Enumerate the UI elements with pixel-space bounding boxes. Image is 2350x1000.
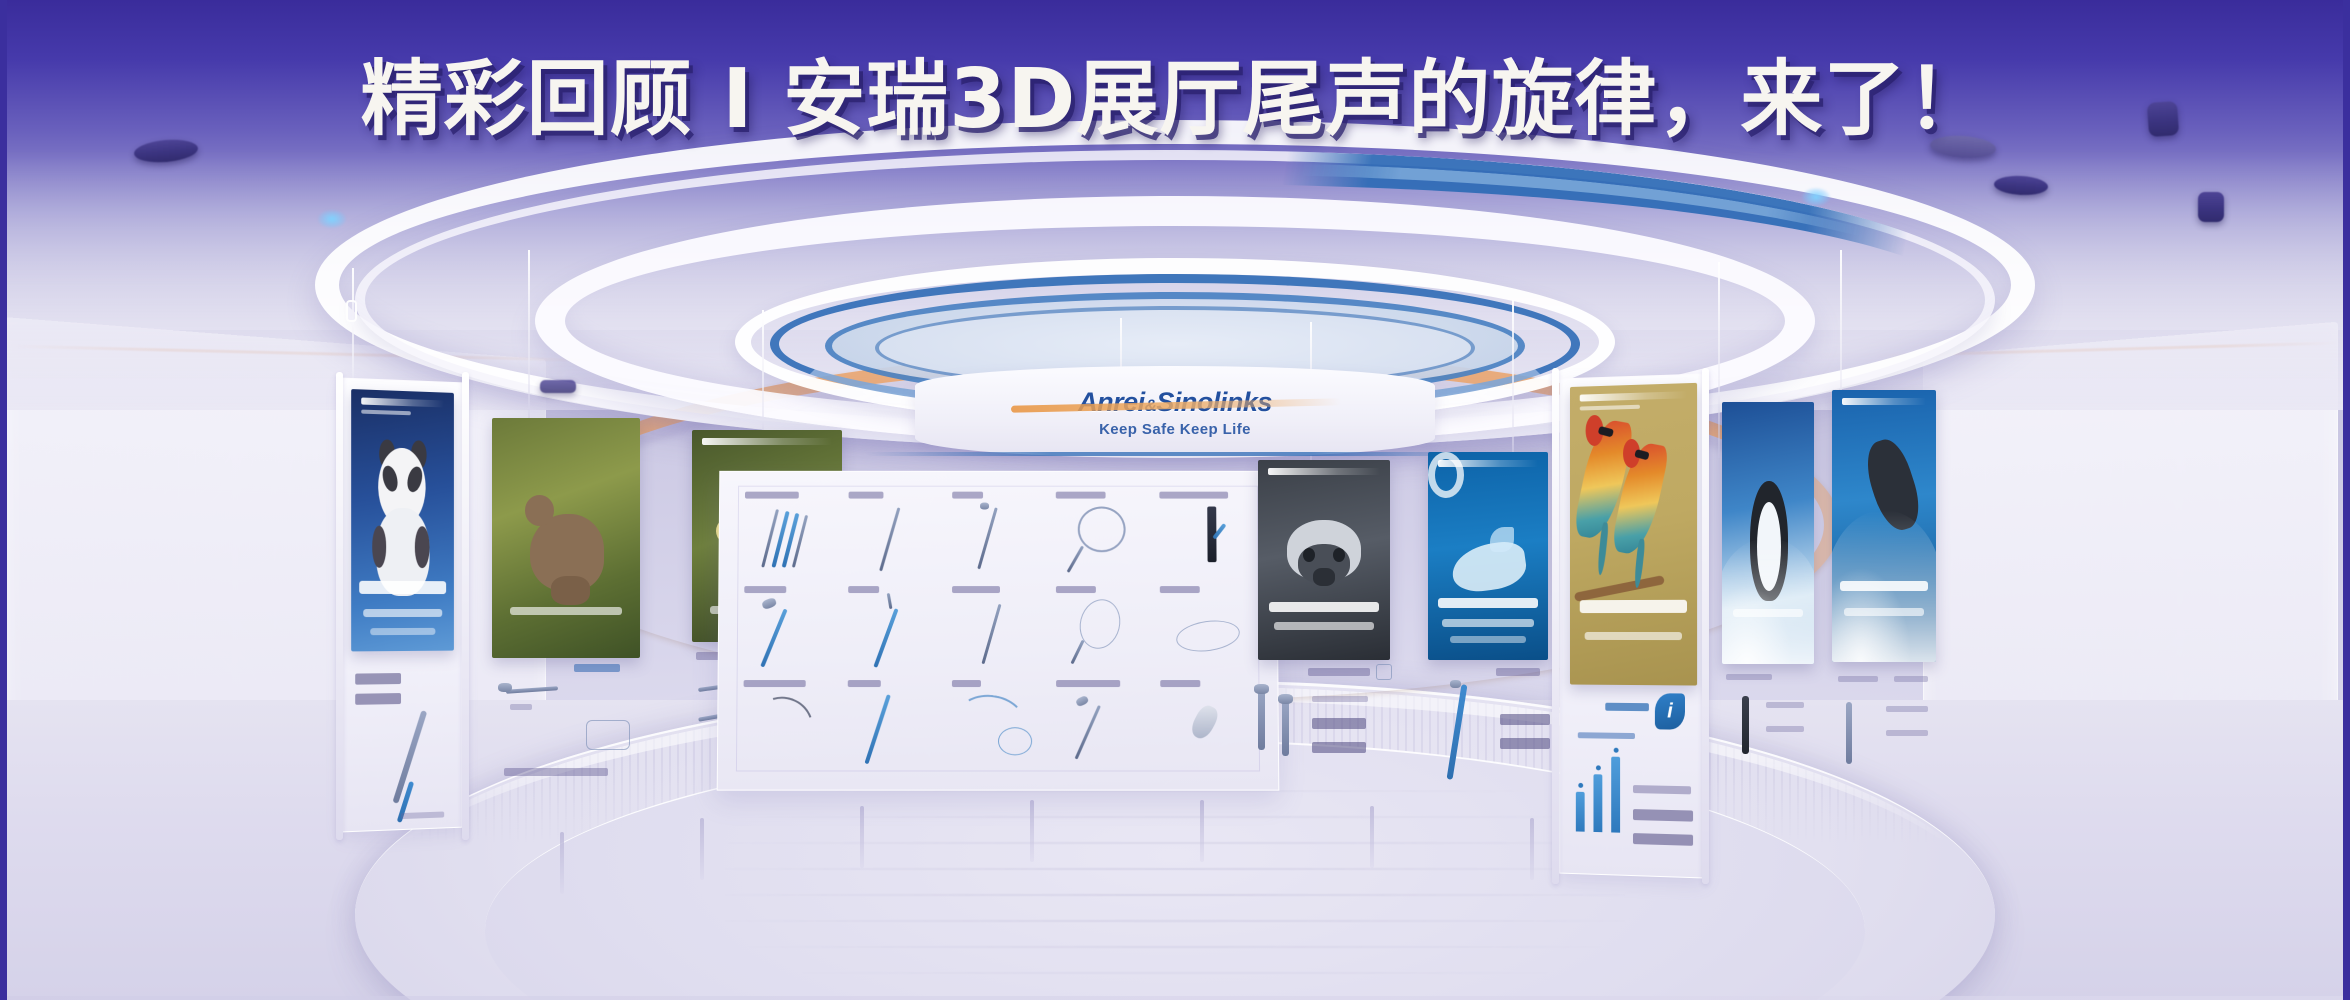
snare-shaft-icon [873,608,898,668]
product-instrument [1846,702,1852,764]
product-cell [1154,581,1259,676]
product-cell [842,487,946,581]
product-cell [1154,675,1259,770]
product-label [1056,680,1121,687]
balloon-loop-icon [1078,507,1126,553]
poster-subtitle-bar [1585,632,1682,640]
stand-footer-line [401,811,444,819]
bar-chart [1576,752,1620,833]
stand-frame [336,372,343,840]
product-instrument [506,686,558,694]
poster-subtitle-bar-2 [370,628,436,635]
product-label [952,492,983,499]
poster-brandline-sub [1580,405,1641,411]
poster-subtitle-bar [1733,609,1803,617]
rail-post [560,832,564,894]
kangaroo-head-icon [525,495,555,526]
panel-caption-line [1312,742,1366,753]
poster-subtitle-bar-2 [1450,636,1527,643]
logo-underline [865,452,1485,456]
chart-caption-line [1633,809,1693,822]
guidewire-icon [879,507,900,571]
rail-post [700,818,704,880]
info-badge-icon: i [1655,693,1685,730]
product-cell [1050,581,1154,676]
poster-title-bar [1840,581,1927,591]
dilator-icon [977,507,997,569]
product-instrument [1282,700,1289,756]
product-instrument-tip [1254,684,1269,694]
poster-ocean [1832,390,1936,662]
panel-kangaroo [478,412,658,822]
stand-frame [1702,368,1709,884]
bar [1593,774,1602,832]
kangaroo-leg-icon [551,576,589,605]
rail-post [1530,818,1534,880]
product-label [1159,492,1227,499]
panel-caption-line [1496,668,1540,676]
poster-title-bar [1269,602,1380,612]
panel-caption-line [1886,730,1928,736]
pigtail-shaft-icon [1071,639,1085,664]
delivery-shaft-icon [1075,705,1101,759]
product-cell [738,487,842,581]
brand-primary: Anrei [1078,387,1145,417]
product-cell [1153,487,1257,581]
product-cell [738,581,843,676]
panel-caption-line [1500,738,1550,749]
branch-icon [1574,575,1665,602]
poster-brandline [1268,468,1380,475]
bar [1576,792,1585,832]
product-instrument [586,720,630,750]
basket-shaft-icon [760,608,787,667]
poster-title-bar [1580,600,1687,613]
poster-subtitle-bar [510,607,623,615]
poster-subtitle-bar [364,609,442,617]
stand-caption-line [355,693,401,705]
badger-nose-icon [1313,568,1334,586]
chart-caption-line [1633,833,1693,846]
bar-cap-icon [1578,783,1583,788]
microcatheter-icon [864,695,890,765]
chart-caption-line [1633,785,1691,794]
panel-ocean [1826,390,1956,840]
delivery-handle-icon [1075,695,1089,707]
brand-tagline: Keep Safe Keep Life [1099,421,1251,438]
panel-caption-line [1894,676,1928,682]
product-cell [1050,675,1155,770]
basket-head-icon [761,597,777,610]
panel-caption-line [1312,718,1366,729]
info-badge-glyph: i [1667,700,1673,723]
stand-caption-line [355,673,401,685]
product-label [952,586,1000,593]
stand-panel-panda [342,378,463,833]
panda-arm-icon [415,526,429,568]
product-cell [946,581,1050,676]
product-grid [736,486,1260,772]
poster-subtitle-bar [1274,622,1374,630]
poster-brandline [361,397,444,407]
right-edge-trim [2343,0,2350,1000]
bird-icon [1621,442,1659,555]
panel-mark-icon [1376,664,1392,680]
poster-brandline [1438,460,1538,467]
panel-footer-line [504,768,608,776]
poster-honey-badger [1258,460,1390,660]
poster-subtitle-bar [1844,608,1923,616]
poster-subtitle-bar [1442,619,1533,627]
biopsy-forceps-icon [981,603,1001,663]
badger-eye-icon [1303,548,1315,562]
panel-caption-line [1886,706,1928,712]
bottom-edge-trim [0,996,2350,1000]
product-label [1056,586,1095,593]
bar-cap-icon [1595,765,1600,770]
left-edge-trim [0,0,7,1000]
panel-caption-line [1500,714,1550,725]
panel-caption-line [1312,696,1368,702]
rail-post [1030,800,1034,862]
panel-caption-line [510,704,532,710]
product-cell [841,675,946,770]
dilatation-balloon-icon [1174,616,1242,655]
panel-caption-line [1766,702,1804,708]
product-label [744,586,786,593]
panel-badger [1248,460,1428,820]
bar [1611,757,1620,833]
dolphin-splash-icon [1428,452,1464,498]
panda-arm-icon [372,526,386,568]
product-cell [1050,487,1154,581]
product-label [744,680,807,687]
stand-panel-bird: i [1559,374,1704,879]
occluder-icon [1188,703,1222,743]
panel-caption-line [1726,674,1772,680]
product-label [952,680,981,687]
product-instrument [1447,684,1468,780]
product-label [745,492,799,499]
dolphin-body-icon [1449,539,1529,595]
product-cell [946,487,1050,581]
product-label [1056,492,1106,499]
bar-cap-icon [1613,748,1618,753]
product-instrument [1258,688,1265,750]
brand-logo-band: Anrei&Sinolinks Keep Safe Keep Life [915,366,1435,458]
product-label [1160,586,1200,593]
product-label [848,586,879,593]
poster-bee-eater-birds [1570,383,1697,686]
panel-caption-line [1766,726,1804,732]
poster-title-bar [360,581,446,594]
product-instrument [1742,696,1749,754]
wave-icon [1722,538,1814,664]
cable-clip [346,300,357,322]
product-label [1160,680,1200,687]
poster-panda [351,389,454,651]
poster-brandline-sub [361,410,411,416]
product-cell [737,675,842,770]
product-display-board [717,471,1280,791]
hanging-cable [1512,300,1514,470]
snare-tip-icon [887,593,893,609]
hanging-cable [762,310,764,450]
ceiling-light-fixture [540,380,576,393]
hanging-cable [528,250,530,420]
poster-penguin [1722,402,1814,664]
catheter-icon [1067,546,1085,573]
stand-badge-label [1605,703,1649,711]
poster-dolphin [1428,452,1548,660]
product-instrument-tip [1278,694,1293,704]
chart-title-line [1578,732,1635,739]
ring-glow-light [1802,188,1830,206]
product-label [848,680,881,687]
product-cell [842,581,946,676]
drainage-loop-icon [998,728,1032,756]
poster-brandline [702,438,832,445]
showroom-banner-image: Anrei&Sinolinks Keep Safe Keep Life [0,0,2350,1000]
product-instrument-tip [498,683,512,692]
product-cell [946,675,1050,770]
ceiling-light-fixture [2198,192,2224,222]
poster-brandline [1580,391,1687,401]
product-label [849,492,884,499]
poster-brandline [1842,398,1926,405]
product-instrument-tip [1450,680,1461,688]
poster-title-bar [1438,598,1539,608]
panel-caption-line [1838,676,1878,682]
dilator-tip-icon [980,503,989,510]
panel-caption-line [574,664,620,672]
panel-penguin [1716,396,1836,836]
hydrophilic-wire-icon [744,687,823,764]
ring-glow-light [318,210,346,228]
panel-caption-line [1308,668,1370,676]
stand-frame [1552,368,1559,884]
ceiling-light-fixture [2147,101,2179,137]
rail-post [1200,800,1204,862]
poster-kangaroo [492,418,640,658]
stand-frame [462,372,469,840]
